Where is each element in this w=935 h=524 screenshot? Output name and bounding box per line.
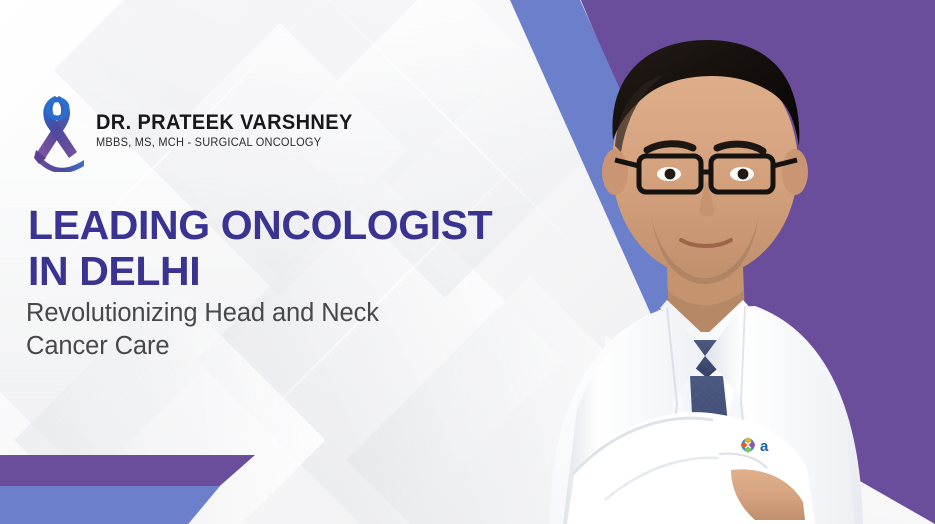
- logo-tagline: MBBS, MS, MCH - SURGICAL ONCOLOGY: [96, 136, 358, 149]
- page-title: LEADING ONCOLOGIST IN DELHI: [28, 203, 492, 295]
- subhead-line-1: Revolutionizing Head and Neck: [26, 299, 379, 327]
- awareness-ribbon-icon: [26, 88, 88, 172]
- hospital-logo-badge: a: [735, 430, 781, 460]
- angled-band-blue: [0, 486, 220, 524]
- promotional-banner: a: [0, 0, 935, 524]
- ear-left: [602, 149, 628, 195]
- logo: DR. PRATEEK VARSHNEY MBBS, MS, MCH - SUR…: [26, 88, 372, 172]
- pupil-right: [738, 169, 749, 180]
- ear-right: [782, 149, 808, 195]
- doctor-portrait: [455, 0, 925, 524]
- logo-text-block: DR. PRATEEK VARSHNEY MBBS, MS, MCH - SUR…: [96, 111, 372, 150]
- headline-line-2: IN DELHI: [28, 249, 492, 295]
- pupil-left: [665, 169, 676, 180]
- logo-doctor-name: DR. PRATEEK VARSHNEY: [96, 111, 353, 134]
- page-subtitle: Revolutionizing Head and Neck Cancer Car…: [26, 297, 379, 362]
- headline-line-1: LEADING ONCOLOGIST: [28, 202, 492, 248]
- badge-wordmark: a: [760, 438, 769, 455]
- badge-emblem-icon: [741, 437, 756, 453]
- subhead-line-2: Cancer Care: [26, 330, 379, 363]
